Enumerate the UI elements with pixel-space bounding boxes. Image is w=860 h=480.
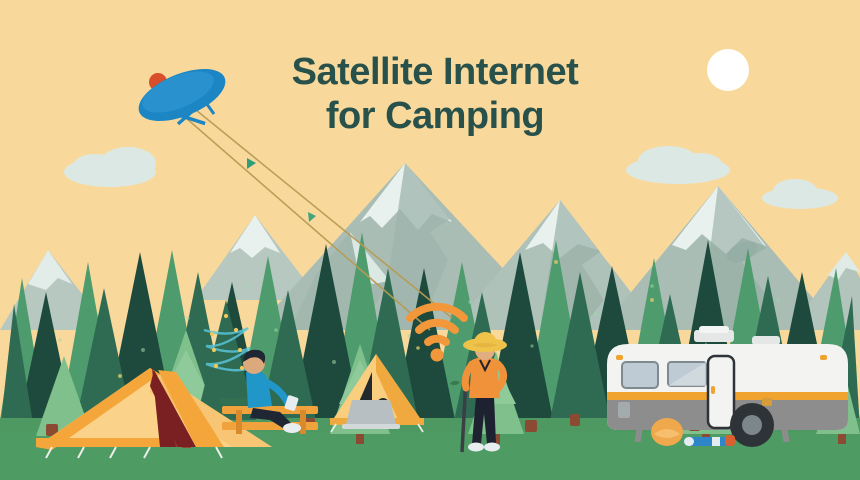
illustration-svg: Satellite Internet for Camping bbox=[0, 0, 860, 480]
page-title-line-1: Satellite Internet bbox=[292, 51, 579, 93]
sun-icon bbox=[707, 49, 749, 91]
rv-trailer bbox=[607, 326, 848, 447]
camping-illustration-canvas: Satellite Internet for Camping bbox=[0, 0, 860, 480]
camp-bag bbox=[651, 418, 683, 446]
rv-roof-vent-icon bbox=[752, 336, 780, 345]
rv-window bbox=[622, 362, 658, 388]
page-title-line-2: for Camping bbox=[326, 95, 544, 137]
